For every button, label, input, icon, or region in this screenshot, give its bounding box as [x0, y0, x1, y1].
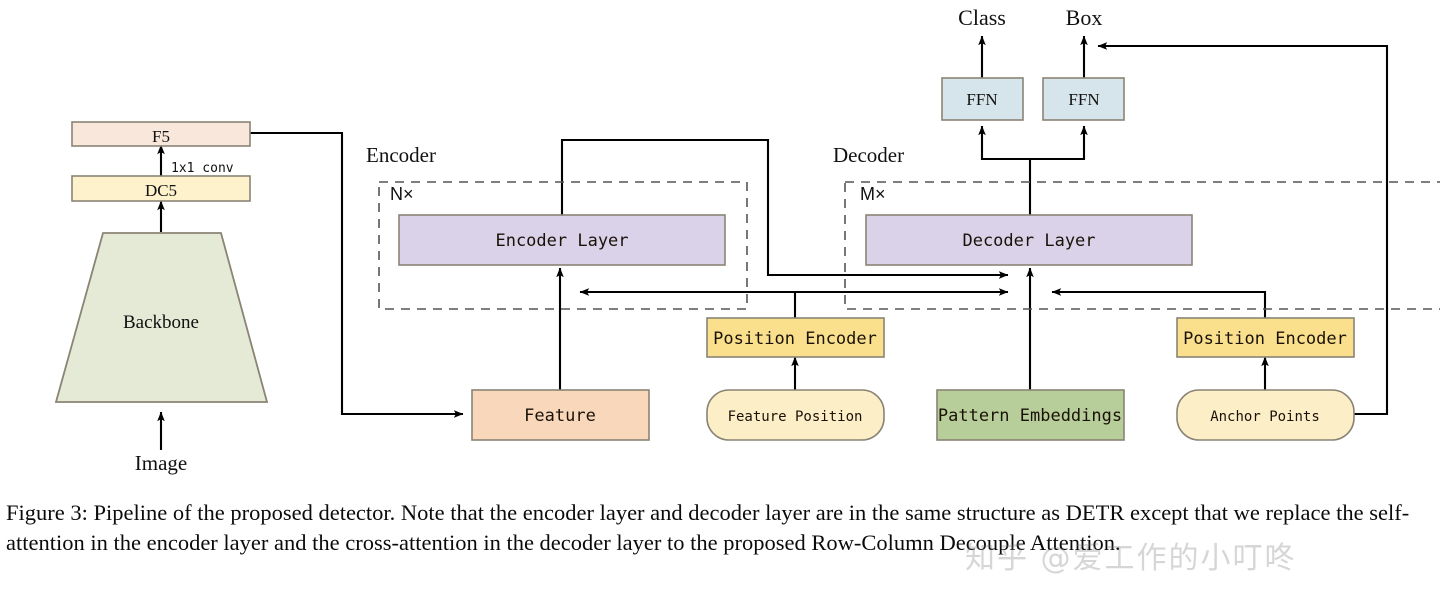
backbone-label: Backbone	[123, 312, 199, 333]
conv-label: 1x1 conv	[171, 161, 234, 176]
image-label: Image	[135, 451, 187, 475]
encoder-repeat-label: N×	[390, 184, 414, 204]
position-encoder-left-label: Position Encoder	[713, 329, 877, 349]
decoder-group-label: Decoder	[833, 143, 904, 167]
class-output-label: Class	[958, 5, 1006, 30]
figure-container: Image Backbone DC5 F5 1x1 conv Encoder N…	[0, 0, 1440, 607]
dc5-label: DC5	[145, 181, 177, 200]
encoder-layer-label: Encoder Layer	[495, 231, 628, 251]
f5-label: F5	[152, 127, 170, 146]
decoder-layer-label: Decoder Layer	[962, 231, 1095, 251]
wire-posenc-right-to-decoder	[1052, 292, 1265, 318]
diagram-wires	[161, 36, 1387, 450]
wire-decoder-to-ffn-box	[1030, 126, 1084, 159]
encoder-group-label: Encoder	[366, 143, 436, 167]
wire-f5-to-feature	[250, 133, 463, 414]
feature-position-label: Feature Position	[728, 409, 863, 425]
position-encoder-right-label: Position Encoder	[1183, 329, 1347, 349]
wire-decoder-to-ffn-class	[982, 126, 1030, 215]
ffn-class-label: FFN	[966, 90, 997, 109]
pattern-embeddings-label: Pattern Embeddings	[938, 406, 1122, 426]
box-output-label: Box	[1066, 5, 1103, 30]
ffn-box-label: FFN	[1068, 90, 1099, 109]
figure-caption: Figure 3: Pipeline of the proposed detec…	[6, 498, 1434, 558]
pipeline-diagram: Image Backbone DC5 F5 1x1 conv Encoder N…	[0, 0, 1440, 490]
feature-label: Feature	[524, 406, 596, 426]
anchor-points-label: Anchor Points	[1210, 409, 1320, 425]
decoder-repeat-label: M×	[860, 184, 886, 204]
